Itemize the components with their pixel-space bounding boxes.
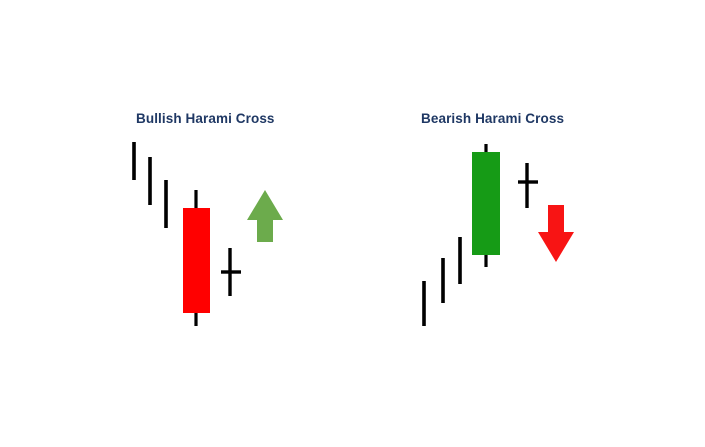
candle-range-bar [148, 157, 152, 205]
candle-range-bar [132, 142, 136, 180]
candle-bullish-1 [132, 142, 136, 180]
candle-bullish-3 [164, 180, 168, 228]
candle-bearish-3 [458, 237, 462, 284]
candle-bearish-4 [472, 144, 500, 267]
candle-bearish-2 [441, 258, 445, 303]
candle-range-bar [164, 180, 168, 228]
candle-bullish-5 [221, 248, 241, 296]
bearish-harami-cross-panel [422, 144, 574, 326]
up-arrow-icon [247, 190, 283, 242]
candle-bullish-4 [183, 190, 210, 326]
candle-bearish-5 [518, 163, 538, 208]
candle-bullish-2 [148, 157, 152, 205]
doji-horizontal-bar [518, 180, 538, 183]
candle-range-bar [458, 237, 462, 284]
candle-body [183, 208, 210, 313]
candle-bearish-1 [422, 281, 426, 326]
diagram-canvas: Bullish Harami Cross Bearish Harami Cros… [0, 0, 705, 447]
down-arrow-icon [538, 205, 574, 262]
candle-range-bar [422, 281, 426, 326]
candle-range-bar [441, 258, 445, 303]
candle-body [472, 152, 500, 255]
doji-horizontal-bar [221, 270, 241, 273]
bullish-harami-cross-panel [132, 142, 283, 326]
candlestick-chart-svg [0, 0, 705, 447]
doji-vertical-wick [525, 163, 528, 208]
